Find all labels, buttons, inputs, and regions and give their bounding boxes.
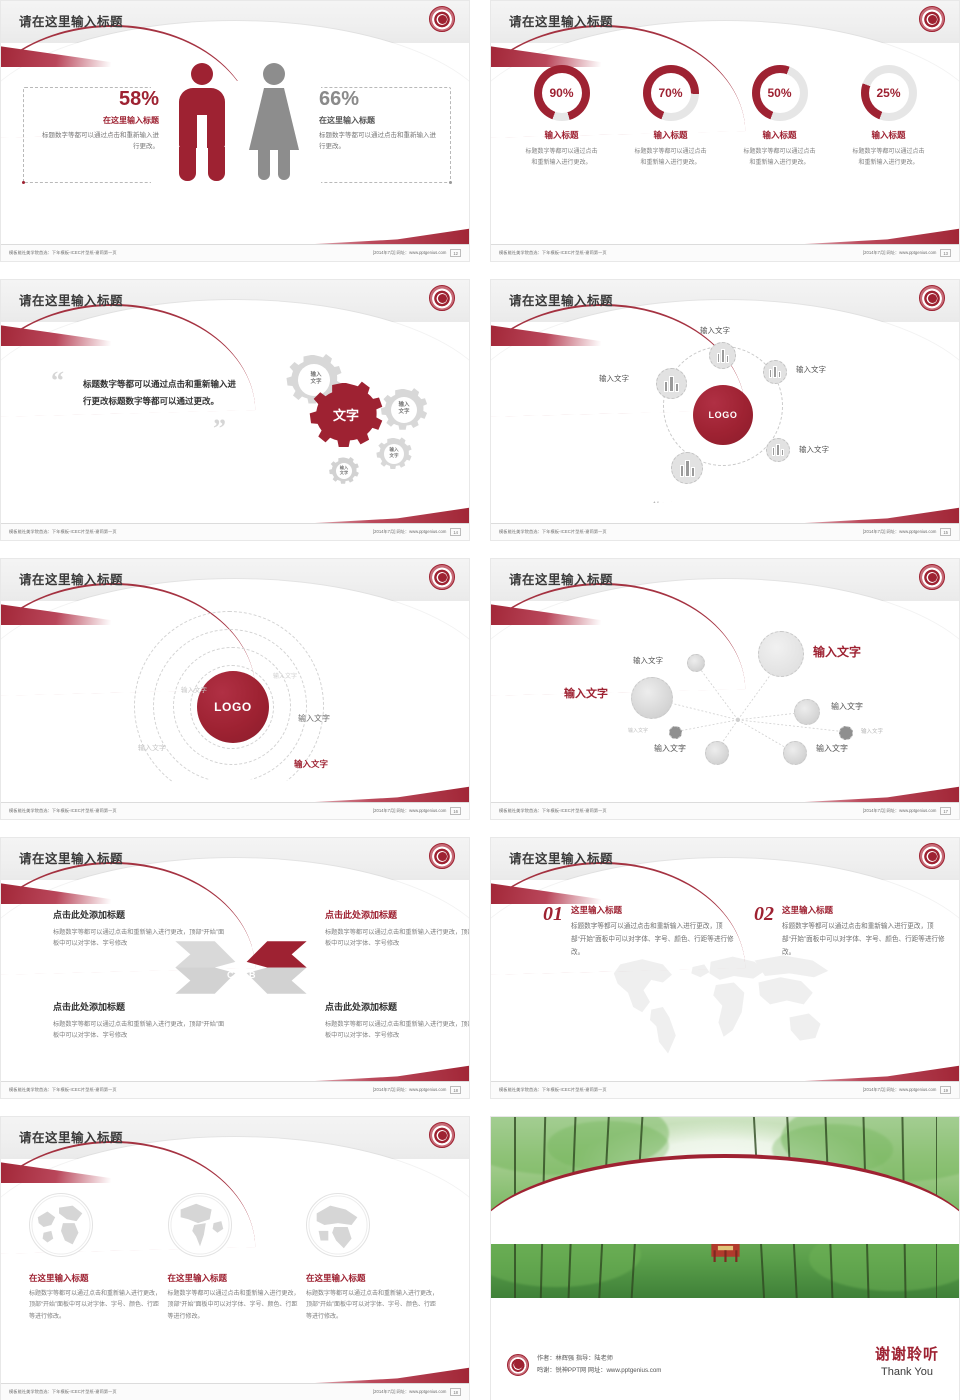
page-number: 12 (450, 249, 461, 257)
university-seal-icon (507, 1354, 529, 1376)
page-title: 请在这里输入标题 (19, 848, 123, 867)
arrow-letter-a: A (249, 945, 256, 955)
node-label-right-lower: 输入文字 (799, 444, 829, 455)
footer-right-group: [2014年7月] 网址：www.pptgenius.com 17 (863, 807, 951, 815)
arrow-letter-b: B (249, 970, 256, 980)
slide-body: D A C B 点击此处添加标题 标题数字等都可以通过点击和重新输入进行更改，顶… (1, 882, 469, 1080)
quote-open-icon: “ (51, 366, 64, 396)
page-title: 请在这里输入标题 (509, 848, 613, 867)
slide-footer: 模板能社美学院首选：下年模板-ICEC片型纸-谢莉第一页 [2014年7月] 网… (491, 802, 959, 819)
footer-left-text: 模板能社美学院首选：下年模板-ICEC片型纸-谢莉第一页 (9, 1389, 117, 1395)
footer-right-text: [2014年7月] 网址：www.pptgenius.com (863, 529, 936, 535)
numbered-item-01: 01 这里输入标题 标题数字等都可以通过点击和重新输入进行更改，顶部“开始”面板… (543, 904, 738, 960)
page-number: 17 (940, 807, 951, 815)
stat-left: 58% 在这里输入标题 标题数字等都可以通过点击和重新输入进行更改。 (39, 89, 159, 152)
slide-body: 58% 在这里输入标题 标题数字等都可以通过点击和重新输入进行更改。 66% 在… (1, 45, 469, 243)
stat-percent: 66% (319, 89, 439, 109)
building-icon (709, 342, 736, 369)
footer-right-text: [2014年7月] 网址：www.pptgenius.com (863, 808, 936, 814)
footer-left-text: 模板能社美学院首选：下年模板-ICEC片型纸-谢莉第一页 (9, 808, 117, 814)
page-title: 请在这里输入标题 (19, 1127, 123, 1146)
footer-right-group: [2014年7月] 网址：www.pptgenius.com 18 (373, 1086, 461, 1094)
globe-item: 在这里输入标题 标题数字等都可以通过点击和重新输入进行更改，顶部“开始”面板中可… (168, 1193, 303, 1323)
slide-body: LOGO 输入文字 输入文字 输入文字 输入文字 输入文字 (491, 324, 959, 522)
slide-footer: 模板能社美学院首选：下年模板-ICEC片型纸-谢莉第一页 [2014年7月] 网… (1, 1383, 469, 1400)
donut-value: 70% (643, 65, 699, 121)
footer-right-text: [2014年7月] 网址：www.pptgenius.com (373, 1087, 446, 1093)
credit-line-1: 作者：林辉强 指导：陆老师 (537, 1353, 661, 1364)
bubble-label-6: 输入文字 (654, 743, 686, 754)
page-title: 请在这里输入标题 (509, 290, 613, 309)
footer-right-text: [2014年7月] 网址：www.pptgenius.com (863, 1087, 936, 1093)
donut-chart-icon: 50% (752, 65, 808, 121)
arrow-letter-c: C (227, 970, 234, 980)
footer-right-group: [2014年7月] 网址：www.pptgenius.com 14 (373, 528, 461, 536)
university-seal-icon (919, 564, 945, 590)
item-body: 标题数字等都可以通过点击和重新输入进行更改，顶部“开始”面板中可以对字体、字号、… (571, 921, 738, 960)
building-icon (763, 360, 787, 384)
ring-label-1: 输入文字 (273, 671, 297, 680)
bubble-label-3: 输入文字 (564, 685, 608, 701)
slide-thumbnail-thank-you[interactable]: 作者：林辉强 指导：陆老师 鸣谢：锐神PPT网 网址：www.pptgenius… (490, 1116, 960, 1400)
stat-percent: 58% (39, 89, 159, 109)
slide-thumbnail-numbered-worldmap[interactable]: 请在这里输入标题 01 这里输入标题 (490, 837, 960, 1099)
slide-thumbnail-donut-stats[interactable]: 请在这里输入标题 90% 输入标题 标题数字等都可以通过点击和重新输入进行更改。… (490, 0, 960, 262)
slide-thumbnail-gears[interactable]: 请在这里输入标题 “ 标题数字等都可以通过点击和重新输入进行更改标题数字等都可以… (0, 279, 470, 541)
footer-left-text: 模板能社美学院首选：下年模板-ICEC片型纸-谢莉第一页 (499, 529, 607, 535)
building-icon (766, 438, 790, 462)
bubble-node (758, 631, 804, 677)
text-block-bottom-left: 点击此处添加标题 标题数字等都可以通过点击和重新输入进行更改，顶部“开始”面板中… (53, 1000, 228, 1042)
ring-label-4: 输入文字 (298, 713, 330, 724)
slide-thumbnail-concentric-logo[interactable]: 请在这里输入标题 LOGO 输入文字 输入文字 输入文字 输入文字 输入文字 输… (0, 558, 470, 820)
donut-item: 50% 输入标题 标题数字等都可以通过点击和重新输入进行更改。 (732, 65, 828, 168)
item-title: 这里输入标题 (571, 904, 738, 916)
donut-description: 标题数字等都可以通过点击和重新输入进行更改。 (623, 147, 719, 168)
globe-item: 在这里输入标题 标题数字等都可以通过点击和重新输入进行更改，顶部“开始”面板中可… (29, 1193, 164, 1323)
globe-body: 标题数字等都可以通过点击和重新输入进行更改，顶部“开始”面板中可以对字体、字号、… (168, 1289, 303, 1323)
donut-chart-icon: 70% (643, 65, 699, 121)
globe-title: 在这里输入标题 (29, 1272, 164, 1284)
gear-label-bottom: 输入 文字 (330, 465, 358, 476)
block-title: 点击此处添加标题 (53, 1000, 228, 1013)
slide-body: 在这里输入标题 标题数字等都可以通过点击和重新输入进行更改，顶部“开始”面板中可… (1, 1161, 469, 1382)
globe-item: 在这里输入标题 标题数字等都可以通过点击和重新输入进行更改，顶部“开始”面板中可… (306, 1193, 441, 1323)
donut-value: 25% (861, 65, 917, 121)
page-number: 15 (940, 528, 951, 536)
text-block-top-left: 点击此处添加标题 标题数字等都可以通过点击和重新输入进行更改，顶部“开始”面板中… (53, 908, 228, 950)
slide-thumbnail-abcd-arrows[interactable]: 请在这里输入标题 D A C B 点击此处添加标题 标题数字等都可以通过点击和重… (0, 837, 470, 1099)
item-title: 这里输入标题 (782, 904, 949, 916)
page-number: 16 (450, 807, 461, 815)
center-logo: LOGO (197, 671, 269, 743)
footer-left-text: 模板能社美学院首选：下年模板-ICEC片型纸-谢莉第一页 (499, 250, 607, 256)
slide-footer: 模板能社美学院首选：下年模板-ICEC片型纸-谢莉第一页 [2014年7月] 网… (491, 244, 959, 261)
page-title: 请在这里输入标题 (509, 11, 613, 30)
university-seal-icon (919, 6, 945, 32)
slide-thumbnail-globes[interactable]: 请在这里输入标题 在这里输入标题 标题数字等都可以通过点击和重新输 (0, 1116, 470, 1400)
footer-right-group: [2014年7月] 网址：www.pptgenius.com 15 (863, 528, 951, 536)
slide-body: LOGO 输入文字 输入文字 输入文字 输入文字 输入文字 输入文字 输入文字 (1, 603, 469, 801)
donut-title: 输入标题 (514, 129, 610, 141)
page-title: 请在这里输入标题 (19, 569, 123, 588)
stat-description: 标题数字等都可以通过点击和重新输入进行更改。 (319, 131, 439, 152)
footer-left-text: 模板能社美学院首选：下年模板-ICEC片型纸-谢莉第一页 (9, 529, 117, 535)
donut-item: 70% 输入标题 标题数字等都可以通过点击和重新输入进行更改。 (623, 65, 719, 168)
donut-description: 标题数字等都可以通过点击和重新输入进行更改。 (732, 147, 828, 168)
node-label-right-upper: 输入文字 (796, 364, 826, 375)
donut-value: 90% (534, 65, 590, 121)
slide-body: 01 这里输入标题 标题数字等都可以通过点击和重新输入进行更改，顶部“开始”面板… (491, 882, 959, 1080)
globe-title: 在这里输入标题 (306, 1272, 441, 1284)
slide-thumbnail-bubble-network[interactable]: 请在这里输入标题 (490, 558, 960, 820)
bubble-node (783, 741, 807, 765)
stat-subtitle: 在这里输入标题 (39, 115, 159, 126)
university-seal-icon (919, 843, 945, 869)
footer-right-group: [2014年7月] 网址：www.pptgenius.com 13 (863, 249, 951, 257)
slide-footer: 模板能社美学院首选：下年模板-ICEC片型纸-谢莉第一页 [2014年7月] 网… (1, 1081, 469, 1098)
text-block-top-right: 点击此处添加标题 标题数字等都可以通过点击和重新输入进行更改，顶部“开始”面板中… (325, 908, 470, 950)
male-figure-icon (179, 63, 225, 181)
female-figure-icon (249, 63, 299, 180)
slide-footer: 模板能社美学院首选：下年模板-ICEC片型纸-谢莉第一页 [2014年7月] 网… (491, 523, 959, 540)
footer-right-group: [2014年7月] 网址：www.pptgenius.com 18 (373, 1388, 461, 1396)
gear-label-mid: 输入 文字 (378, 447, 410, 458)
gear-label-main: 文字 (323, 408, 369, 424)
globe-body: 标题数字等都可以通过点击和重新输入进行更改，顶部“开始”面板中可以对字体、字号、… (29, 1289, 164, 1323)
block-title: 点击此处添加标题 (325, 1000, 470, 1013)
bubble-label-4: 输入文字 (831, 701, 863, 712)
gear-label-top: 输入 文字 (296, 372, 336, 386)
center-logo: LOGO (693, 385, 753, 445)
donut-title: 输入标题 (841, 129, 937, 141)
block-title: 点击此处添加标题 (325, 908, 470, 921)
donut-item: 90% 输入标题 标题数字等都可以通过点击和重新输入进行更改。 (514, 65, 610, 168)
donut-title: 输入标题 (623, 129, 719, 141)
bubble-node (839, 726, 853, 740)
page-number: 13 (940, 249, 951, 257)
node-label-left: 输入文字 (599, 373, 629, 384)
page-number: 18 (450, 1388, 461, 1396)
block-body: 标题数字等都可以通过点击和重新输入进行更改，顶部“开始”面板中可以对字体、字号修… (325, 927, 470, 950)
globe-title: 在这里输入标题 (168, 1272, 303, 1284)
block-body: 标题数字等都可以通过点击和重新输入进行更改，顶部“开始”面板中可以对字体、字号修… (53, 1019, 228, 1042)
page-title: 请在这里输入标题 (19, 11, 123, 30)
bubble-label-1: 输入文字 (633, 655, 663, 666)
donut-title: 输入标题 (732, 129, 828, 141)
gear-label-right: 输入 文字 (386, 402, 422, 416)
globe-body: 标题数字等都可以通过点击和重新输入进行更改，顶部“开始”面板中可以对字体、字号、… (306, 1289, 441, 1323)
slide-footer: 模板能社美学院首选：下年模板-ICEC片型纸-谢莉第一页 [2014年7月] 网… (1, 802, 469, 819)
footer-left-text: 模板能社美学院首选：下年模板-ICEC片型纸-谢莉第一页 (9, 1087, 117, 1093)
ring-label-2: 输入文字 (181, 684, 207, 694)
footer-right-text: [2014年7月] 网址：www.pptgenius.com (863, 250, 936, 256)
world-map-icon (519, 945, 931, 1068)
footer-left-text: 模板能社美学院首选：下年模板-ICEC片型纸-谢莉第一页 (499, 808, 607, 814)
numbered-item-02: 02 这里输入标题 标题数字等都可以通过点击和重新输入进行更改，顶部“开始”面板… (754, 904, 949, 960)
donut-row: 90% 输入标题 标题数字等都可以通过点击和重新输入进行更改。 70% 输入标题… (507, 65, 943, 168)
university-seal-icon (919, 285, 945, 311)
page-title: 请在这里输入标题 (19, 290, 123, 309)
slide-thumbnail-gender-stats[interactable]: 请在这里输入标题 58% 在这里输入标题 标题数字等都可以通过点击和重新输入进行… (0, 0, 470, 262)
donut-chart-icon: 25% (861, 65, 917, 121)
footer-right-text: [2014年7月] 网址：www.pptgenius.com (373, 250, 446, 256)
slide-body: 输入文字 输入文字 输入文字 输入文字 输入文字 输入文字 输入文字 输入文字 (491, 603, 959, 801)
network-links (491, 603, 959, 801)
footer-right-group: [2014年7月] 网址：www.pptgenius.com 19 (863, 1086, 951, 1094)
bubble-label-7: 输入文字 (816, 743, 848, 754)
block-body: 标题数字等都可以通过点击和重新输入进行更改，顶部“开始”面板中可以对字体、字号修… (53, 927, 228, 950)
thanks-en: Thank You (875, 1366, 939, 1378)
quote-close-icon: ” (213, 414, 226, 444)
item-body: 标题数字等都可以通过点击和重新输入进行更改，顶部“开始”面板中可以对字体、字号、… (782, 921, 949, 960)
slide-footer: 模板能社美学院首选：下年模板-ICEC片型纸-谢莉第一页 [2014年7月] 网… (1, 523, 469, 540)
footer-left-text: 模板能社美学院首选：下年模板-ICEC片型纸-谢莉第一页 (9, 250, 117, 256)
building-icon (671, 452, 703, 484)
ring-label-3: 输入文字 (138, 743, 166, 753)
text-block-bottom-right: 点击此处添加标题 标题数字等都可以通过点击和重新输入进行更改，顶部“开始”面板中… (325, 1000, 470, 1042)
footer-right-text: [2014年7月] 网址：www.pptgenius.com (373, 529, 446, 535)
footer-right-text: [2014年7月] 网址：www.pptgenius.com (373, 808, 446, 814)
stat-right: 66% 在这里输入标题 标题数字等都可以通过点击和重新输入进行更改。 (319, 89, 439, 152)
page-number: 14 (450, 528, 461, 536)
university-seal-icon (429, 1122, 455, 1148)
credit-line-2: 鸣谢：锐神PPT网 网址：www.pptgenius.com (537, 1365, 661, 1376)
stat-subtitle: 在这里输入标题 (319, 115, 439, 126)
ring-label-5: 输入文字 (294, 758, 328, 770)
bubble-label-2: 输入文字 (813, 643, 861, 660)
slide-footer: 模板能社美学院首选：下年模板-ICEC片型纸-谢莉第一页 [2014年7月] 网… (1, 244, 469, 261)
footer-right-group: [2014年7月] 网址：www.pptgenius.com 16 (373, 807, 461, 815)
bubble-node (631, 677, 673, 719)
university-seal-icon (429, 843, 455, 869)
page-number: 19 (940, 1086, 951, 1094)
globe-icon (306, 1193, 370, 1257)
block-title: 点击此处添加标题 (53, 908, 228, 921)
item-number: 02 (754, 904, 774, 924)
globe-icon (29, 1193, 93, 1257)
footer-left-text: 模板能社美学院首选：下年模板-ICEC片型纸-谢莉第一页 (499, 1087, 607, 1093)
block-body: 标题数字等都可以通过点击和重新输入进行更改，顶部“开始”面板中可以对字体、字号修… (325, 1019, 470, 1042)
node-label-top: 输入文字 (700, 325, 730, 336)
slide-footer: 模板能社美学院首选：下年模板-ICEC片型纸-谢莉第一页 [2014年7月] 网… (491, 1081, 959, 1098)
page-number: 18 (450, 1086, 461, 1094)
university-seal-icon (429, 564, 455, 590)
donut-chart-icon: 90% (534, 65, 590, 121)
slide-body: 90% 输入标题 标题数字等都可以通过点击和重新输入进行更改。 70% 输入标题… (491, 45, 959, 243)
bubble-node (687, 654, 705, 672)
donut-value: 50% (752, 65, 808, 121)
stat-description: 标题数字等都可以通过点击和重新输入进行更改。 (39, 131, 159, 152)
page-title: 请在这里输入标题 (509, 569, 613, 588)
thanks-group: 谢谢聆听 Thank You (875, 1343, 939, 1378)
slide-thumbnail-logo-network[interactable]: 请在这里输入标题 LOGO 输入文字 输入文字 输入文字 输入文字 (490, 279, 960, 541)
donut-description: 标题数字等都可以通过点击和重新输入进行更改。 (841, 147, 937, 168)
university-seal-icon (429, 6, 455, 32)
university-seal-icon (429, 285, 455, 311)
footer-right-group: [2014年7月] 网址：www.pptgenius.com 12 (373, 249, 461, 257)
footer-right-text: [2014年7月] 网址：www.pptgenius.com (373, 1389, 446, 1395)
bubble-node (794, 699, 820, 725)
slide-body: “ 标题数字等都可以通过点击和重新输入进行更改标题数字等都可以通过更改。 ” (1, 324, 469, 522)
bamboo-forest-pavilion-photo (491, 1117, 959, 1298)
donut-item: 25% 输入标题 标题数字等都可以通过点击和重新输入进行更改。 (841, 65, 937, 168)
donut-description: 标题数字等都可以通过点击和重新输入进行更改。 (514, 147, 610, 168)
globe-icon (168, 1193, 232, 1257)
bubble-node (705, 741, 729, 765)
bubble-label-5: 输入文字 (628, 727, 648, 734)
slide-thumbnail-grid: 请在这里输入标题 58% 在这里输入标题 标题数字等都可以通过点击和重新输入进行… (0, 0, 960, 1400)
quote-paragraph: 标题数字等都可以通过点击和重新输入进行更改标题数字等都可以通过更改。 (83, 376, 243, 410)
credit-group: 作者：林辉强 指导：陆老师 鸣谢：锐神PPT网 网址：www.pptgenius… (507, 1353, 661, 1376)
item-number: 01 (543, 904, 563, 924)
building-icon (656, 368, 687, 399)
thanks-cn: 谢谢聆听 (875, 1343, 939, 1364)
bubble-label-8: 输入文字 (861, 727, 883, 735)
bubble-node (669, 726, 682, 739)
